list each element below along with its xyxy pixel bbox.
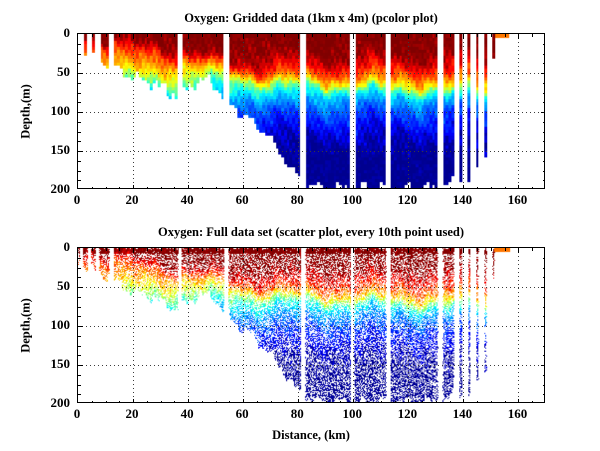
xtick-label: 0 xyxy=(57,194,97,206)
xtick-label: 140 xyxy=(442,408,482,420)
ytick-label: 50 xyxy=(38,67,70,77)
xtick-label: 80 xyxy=(277,408,317,420)
xtick-label: 40 xyxy=(167,194,207,206)
xtick-label: 160 xyxy=(497,408,537,420)
xtick-label: 0 xyxy=(57,408,97,420)
xtick-label: 80 xyxy=(277,194,317,206)
xtick-label: 60 xyxy=(222,194,262,206)
ytick-label: 200 xyxy=(38,184,70,194)
xtick-label: 100 xyxy=(332,408,372,420)
xtick-label: 100 xyxy=(332,194,372,206)
oxygen-pcolor-image xyxy=(78,34,544,188)
xtick-label: 160 xyxy=(497,194,537,206)
top-panel-ylabel: Depth,(m) xyxy=(19,72,34,152)
ytick-label: 150 xyxy=(38,359,70,369)
top-panel-title: Oxygen: Gridded data (1km x 4m) (pcolor … xyxy=(77,11,545,26)
ytick-label: 0 xyxy=(38,28,70,38)
ytick-label: 100 xyxy=(38,106,70,116)
bottom-panel-ylabel: Depth,(m) xyxy=(19,286,34,366)
ytick-label: 50 xyxy=(38,281,70,291)
xtick-label: 20 xyxy=(112,194,152,206)
ytick-label: 100 xyxy=(38,320,70,330)
bottom-panel-xlabel: Distance, (km) xyxy=(77,428,545,443)
xtick-label: 140 xyxy=(442,194,482,206)
ytick-label: 150 xyxy=(38,145,70,155)
xtick-label: 120 xyxy=(387,194,427,206)
ytick-label: 0 xyxy=(38,242,70,252)
xtick-label: 120 xyxy=(387,408,427,420)
xtick-label: 40 xyxy=(167,408,207,420)
bottom-panel-plot-area xyxy=(77,247,545,403)
top-panel-plot-area xyxy=(77,33,545,189)
xtick-label: 20 xyxy=(112,408,152,420)
bottom-panel-title: Oxygen: Full data set (scatter plot, eve… xyxy=(77,225,545,240)
oxygen-scatter-image xyxy=(78,248,544,402)
xtick-label: 60 xyxy=(222,408,262,420)
figure-canvas: Oxygen: Gridded data (1km x 4m) (pcolor … xyxy=(0,0,600,451)
ytick-label: 200 xyxy=(38,398,70,408)
